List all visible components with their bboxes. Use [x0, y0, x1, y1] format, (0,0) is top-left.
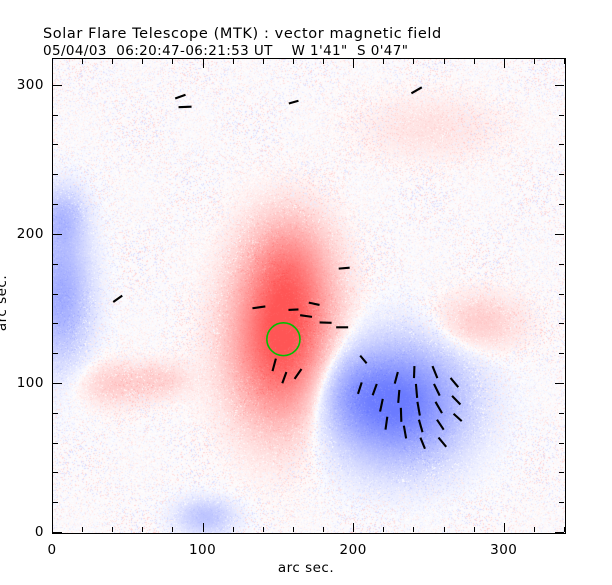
x-tick-label: 0 [47, 542, 56, 558]
axis-tick [353, 523, 354, 532]
axis-tick [82, 59, 83, 64]
axis-tick [53, 413, 58, 414]
axis-tick [53, 115, 58, 116]
axis-tick [559, 204, 564, 205]
axis-tick [555, 383, 564, 384]
magnetic-vector-arrow [339, 268, 350, 269]
y-tick-label: 0 [6, 524, 44, 540]
magnetic-vector-arrow [252, 306, 265, 308]
magnetic-vector-arrow [439, 438, 447, 447]
magnetic-vector-group [113, 87, 462, 448]
x-tick-label: 100 [189, 542, 216, 558]
axis-tick [559, 264, 564, 265]
axis-tick [555, 532, 564, 533]
axis-tick [564, 527, 565, 532]
axis-tick [293, 59, 294, 64]
axis-tick [203, 523, 204, 532]
axis-tick [559, 115, 564, 116]
magnetic-vector-arrow [273, 359, 276, 372]
magnetic-vector-arrow [411, 87, 421, 93]
axis-tick [323, 59, 324, 64]
magnetic-vector-arrow [437, 420, 444, 430]
axis-tick [534, 59, 535, 64]
axis-tick [53, 174, 58, 175]
axis-tick [203, 59, 204, 68]
magnetic-vector-arrow [373, 384, 377, 395]
x-tick-label: 300 [490, 542, 517, 558]
axis-tick [142, 527, 143, 532]
axis-tick [53, 85, 62, 86]
axis-tick [504, 523, 505, 532]
axis-tick [52, 59, 53, 68]
axis-tick [564, 59, 565, 64]
axis-tick [555, 234, 564, 235]
magnetic-vector-arrow [300, 315, 312, 317]
axis-tick [444, 527, 445, 532]
magnetic-vector-arrow [420, 438, 424, 449]
vector-field-overlay [53, 59, 565, 533]
axis-tick [172, 527, 173, 532]
magnetic-vector-arrow [395, 372, 398, 384]
axis-tick [82, 527, 83, 532]
axis-tick [504, 59, 505, 68]
axis-tick [263, 59, 264, 64]
axis-tick [53, 502, 58, 503]
magnetic-vector-arrow [432, 366, 437, 378]
axis-tick [323, 527, 324, 532]
y-tick-label: 300 [6, 77, 44, 93]
axis-tick [233, 527, 234, 532]
axis-tick [559, 502, 564, 503]
magnetic-vector-arrow [417, 402, 419, 416]
axis-tick [383, 59, 384, 64]
flare-kernel-contour [267, 323, 300, 356]
axis-tick [142, 59, 143, 64]
axis-tick [53, 383, 62, 384]
axis-tick [534, 527, 535, 532]
x-axis-title: arc sec. [0, 560, 612, 576]
axis-tick [53, 472, 58, 473]
axis-tick [383, 527, 384, 532]
magnetic-vector-arrow [380, 399, 383, 412]
axis-tick [172, 59, 173, 64]
axis-tick [53, 204, 58, 205]
magnetic-vector-arrow [434, 384, 440, 396]
axis-tick [53, 323, 58, 324]
axis-tick [559, 294, 564, 295]
axis-tick [53, 144, 58, 145]
axis-tick [53, 532, 62, 533]
magnetic-vector-arrow [295, 369, 302, 379]
axis-tick [559, 174, 564, 175]
axis-tick [53, 264, 58, 265]
axis-tick [559, 472, 564, 473]
page-title: Solar Flare Telescope (MTK) : vector mag… [43, 26, 442, 43]
magnetic-vector-arrow [282, 372, 286, 383]
magnetic-vector-arrow [454, 414, 462, 421]
magnetic-vector-arrow [451, 378, 459, 387]
magnetic-vector-arrow [175, 95, 185, 99]
axis-tick [555, 85, 564, 86]
axis-tick [293, 527, 294, 532]
magnetic-vector-arrow [435, 402, 442, 413]
axis-tick [112, 527, 113, 532]
magnetic-vector-arrow [398, 390, 399, 403]
axis-tick [413, 527, 414, 532]
magnetic-vector-arrow [452, 396, 460, 405]
x-tick-label: 200 [340, 542, 367, 558]
y-tick-label: 200 [6, 226, 44, 242]
magnetic-vector-arrow [416, 384, 417, 398]
magnetic-vector-arrow [288, 309, 298, 310]
axis-tick [52, 523, 53, 532]
magnetic-vector-arrow [358, 382, 362, 393]
plot-area [52, 58, 566, 534]
y-tick-label: 100 [6, 375, 44, 391]
y-axis-title: arc sec. [0, 275, 10, 331]
magnetogram-figure: Solar Flare Telescope (MTK) : vector mag… [0, 0, 612, 585]
axis-tick [53, 294, 58, 295]
axis-tick [474, 527, 475, 532]
axis-tick [233, 59, 234, 64]
magnetic-vector-arrow [113, 296, 122, 302]
magnetic-vector-arrow [289, 101, 299, 104]
axis-tick [444, 59, 445, 64]
magnetic-vector-arrow [404, 426, 406, 439]
magnetic-vector-arrow [360, 356, 366, 364]
axis-tick [53, 353, 58, 354]
axis-tick [559, 144, 564, 145]
axis-tick [53, 234, 62, 235]
axis-tick [112, 59, 113, 64]
axis-tick [263, 527, 264, 532]
magnetic-vector-arrow [419, 420, 423, 432]
axis-tick [413, 59, 414, 64]
axis-tick [559, 443, 564, 444]
axis-tick [353, 59, 354, 68]
magnetic-vector-arrow [385, 417, 387, 430]
axis-tick [559, 323, 564, 324]
axis-tick [53, 443, 58, 444]
axis-tick [559, 353, 564, 354]
axis-tick [474, 59, 475, 64]
axis-tick [559, 413, 564, 414]
magnetic-vector-arrow [309, 303, 320, 305]
